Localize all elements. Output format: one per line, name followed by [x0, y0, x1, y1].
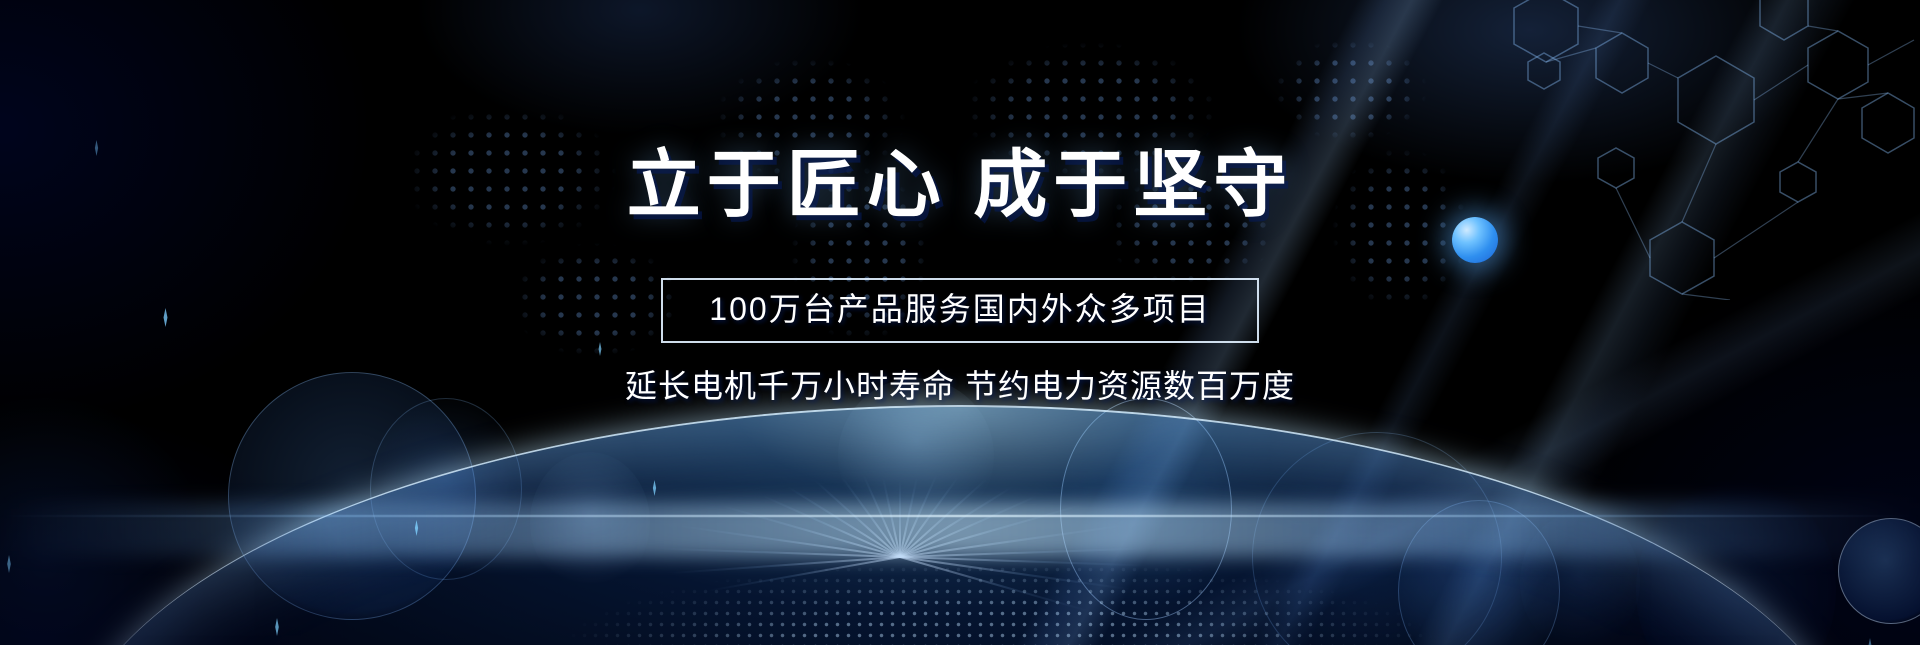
banner-content: 立于匠心 成于坚守 100万台产品服务国内外众多项目 延长电机千万小时寿命 节约… [0, 0, 1920, 645]
promo-banner: 立于匠心 成于坚守 100万台产品服务国内外众多项目 延长电机千万小时寿命 节约… [0, 0, 1920, 645]
banner-subline: 延长电机千万小时寿命 节约电力资源数百万度 [625, 369, 1295, 404]
tagline-box-text: 100万台产品服务国内外众多项目 [709, 292, 1210, 327]
banner-headline: 立于匠心 成于坚守 [627, 148, 1294, 222]
tagline-box: 100万台产品服务国内外众多项目 [661, 278, 1258, 343]
